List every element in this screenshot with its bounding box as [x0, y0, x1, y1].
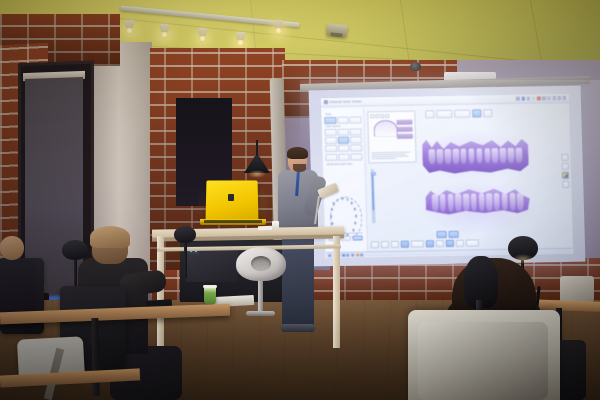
status-icon[interactable] [328, 254, 331, 257]
tool-button[interactable] [325, 153, 337, 160]
desk-lamp[interactable] [62, 240, 88, 260]
opacity-slider[interactable] [371, 169, 375, 223]
status-icon[interactable] [342, 253, 345, 256]
standing-desk-leg [333, 236, 340, 348]
upper-teeth-row [429, 147, 523, 165]
attendee-far-left-head [0, 236, 24, 260]
tool-button[interactable] [325, 145, 337, 152]
laptop-logo [228, 194, 234, 201]
tool-button[interactable] [325, 137, 337, 144]
titlebar-icon-row[interactable] [516, 96, 566, 100]
rotate-view-button[interactable] [562, 163, 569, 170]
panel-label-options: Scan options [326, 124, 362, 128]
tool-button[interactable] [337, 116, 349, 123]
report-tool-icon[interactable] [375, 114, 379, 118]
coffee-cup-lid [203, 285, 217, 288]
view-mode-button[interactable] [425, 110, 434, 118]
toolbar-icon[interactable] [527, 97, 531, 101]
toolbar-icon[interactable] [537, 97, 541, 101]
attendee-left-hair [90, 226, 130, 248]
track-spotlight-icon [160, 24, 169, 37]
edit-tool-button[interactable] [381, 241, 389, 248]
view-mode-button[interactable] [454, 110, 470, 118]
tool-button[interactable] [351, 145, 363, 152]
upper-arch-scan[interactable] [422, 137, 529, 175]
equipment-panel [186, 246, 238, 282]
stool-post [258, 279, 263, 313]
tool-button[interactable] [338, 153, 350, 160]
standing-desk-leg [157, 236, 164, 356]
track-spotlight-icon [198, 28, 207, 41]
action-button[interactable] [449, 231, 459, 238]
laptop-keyboard[interactable] [204, 220, 262, 223]
close-button[interactable] [562, 96, 565, 99]
view-mode-button[interactable] [436, 110, 452, 118]
presenter-hair [287, 147, 308, 159]
edit-tool-button-active[interactable] [426, 240, 434, 247]
editing-toolbar[interactable] [371, 239, 479, 248]
edit-tool-button[interactable] [391, 241, 399, 248]
track-spotlight-icon [274, 20, 283, 33]
scan-application-window: Intraoral Scan Viewer Tools [321, 94, 573, 258]
desk-lamp[interactable] [174, 226, 196, 243]
desk-leg [91, 318, 99, 396]
presenter-shoes [281, 324, 315, 332]
report-tool-icon[interactable] [380, 114, 384, 118]
tool-button[interactable] [338, 145, 350, 152]
green-coffee-cup [204, 287, 216, 304]
edit-tool-button-active[interactable] [446, 240, 454, 247]
lower-teeth-row [432, 192, 524, 213]
slider-fill [372, 174, 374, 210]
tool-button[interactable] [324, 116, 336, 123]
toolbar-icon[interactable] [547, 96, 551, 100]
report-thumbnail[interactable] [397, 127, 413, 132]
upper-arch-mesh [422, 137, 529, 175]
app-title: Intraoral Scan Viewer [329, 99, 362, 104]
view-mode-button-selected[interactable] [472, 109, 481, 117]
view-mode-toolbar[interactable] [425, 109, 492, 118]
equipment-right [560, 276, 594, 302]
slider-knob[interactable] [371, 172, 376, 175]
edit-tool-button[interactable] [371, 241, 379, 248]
security-camera-icon [410, 62, 421, 71]
ceiling-projector [326, 23, 347, 37]
white-cup [272, 221, 279, 229]
view-controls-rail[interactable] [561, 154, 569, 188]
stool-seat-cutout [251, 256, 271, 271]
edit-tool-button[interactable] [456, 240, 464, 247]
app-logo-icon [324, 100, 328, 104]
status-icon[interactable] [346, 253, 349, 256]
tool-button[interactable] [351, 153, 363, 160]
edit-tool-button-active[interactable] [401, 241, 409, 248]
status-icon[interactable] [351, 253, 354, 256]
report-tool-icon[interactable] [385, 114, 389, 118]
edit-tool-button[interactable] [466, 239, 479, 246]
tool-button[interactable] [325, 129, 337, 136]
report-tool-icon[interactable] [370, 114, 374, 118]
scan-report-panel[interactable] [367, 111, 416, 164]
presenter-beard [293, 164, 306, 172]
tool-button[interactable] [350, 128, 362, 135]
center-action-buttons[interactable] [437, 231, 459, 238]
screenshot-button[interactable] [562, 181, 569, 188]
color-mode-button[interactable] [562, 172, 569, 179]
lower-arch-mesh [425, 187, 530, 229]
tool-button[interactable] [350, 137, 362, 144]
status-icon[interactable] [356, 253, 359, 256]
desk-lamp-arm [184, 242, 187, 278]
draped-jacket [418, 322, 548, 400]
action-button[interactable] [437, 231, 447, 238]
desk-papers [258, 226, 272, 230]
lower-gum-band [430, 217, 526, 226]
report-thumbnail[interactable] [396, 120, 412, 125]
toolbar-icon[interactable] [532, 97, 536, 101]
toolbar-icon[interactable] [521, 97, 525, 101]
toolbar-icon[interactable] [516, 97, 520, 101]
tool-button[interactable] [338, 137, 350, 144]
toolbar-icon[interactable] [542, 96, 546, 100]
tool-button[interactable] [352, 235, 362, 240]
scene-photo: Intraoral Scan Viewer Tools [0, 0, 600, 400]
tool-grid-primary[interactable] [324, 116, 361, 124]
report-thumbnail[interactable] [397, 134, 413, 139]
projection-screen: Intraoral Scan Viewer Tools [309, 86, 586, 267]
panel-label-arch-chart: dental arch tooth chart [327, 162, 363, 166]
minimize-button[interactable] [552, 96, 555, 99]
app-titlebar: Intraoral Scan Viewer [321, 94, 569, 107]
edit-tool-button[interactable] [436, 240, 444, 247]
tool-button[interactable] [337, 129, 349, 136]
lower-arch-scan[interactable] [425, 187, 530, 229]
maximize-button[interactable] [557, 96, 560, 99]
report-toolbar[interactable] [370, 114, 412, 118]
tool-button[interactable] [350, 116, 362, 123]
zoom-fit-button[interactable] [561, 154, 568, 161]
report-text-lines [371, 151, 413, 160]
panel-label-tools: Tools [325, 112, 361, 116]
pendant-lamp-cord [256, 140, 258, 158]
track-spotlight-icon [125, 20, 134, 33]
track-spotlight-icon [236, 32, 245, 45]
status-icon[interactable] [360, 253, 363, 256]
report-arch-preview [373, 120, 397, 137]
tool-grid-secondary[interactable] [325, 128, 363, 160]
stool-base [246, 311, 275, 316]
edit-tool-button[interactable] [411, 240, 424, 247]
view-mode-button[interactable] [483, 109, 492, 117]
